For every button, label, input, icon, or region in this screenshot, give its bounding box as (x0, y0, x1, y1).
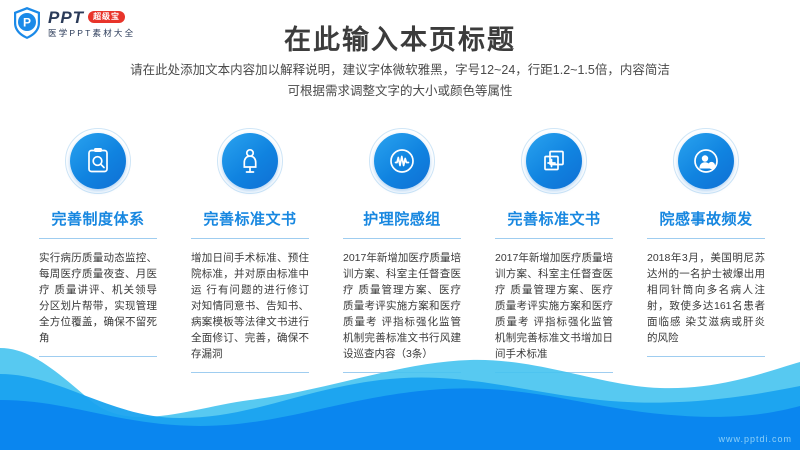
document-person-icon (235, 146, 265, 176)
person-shield-icon (691, 146, 721, 176)
title-divider (39, 238, 157, 239)
column-body: 2018年3月，美国明尼苏达州的一名护士被爆出用 相同针筒向多名病人注射，致使多… (647, 250, 765, 346)
column-title: 护理院感组 (363, 208, 441, 229)
column-title: 完善标准文书 (203, 208, 296, 229)
feature-columns: 完善制度体系 实行病历质量动态监控、每周医疗质量夜查、月医疗 质量讲评、机关领导… (22, 128, 782, 373)
page-title: 在此输入本页标题 (0, 18, 800, 57)
clipboard-search-icon (83, 146, 113, 176)
feature-column[interactable]: 院感事故频发 2018年3月，美国明尼苏达州的一名护士被爆出用 相同针筒向多名病… (630, 128, 782, 373)
watermark: www.pptdi.com (718, 434, 792, 444)
subtitle-line-2: 可根据需求调整文字的大小或颜色等属性 (0, 81, 800, 102)
subtitle-line-1: 请在此处添加文本内容加以解释说明，建议字体微软雅黑，字号12~24，行距1.2~… (0, 60, 800, 81)
icon-circle (678, 133, 734, 189)
icon-circle (70, 133, 126, 189)
feature-column[interactable]: 完善标准文书 增加日间手术标准、预住院标准，并对原由标准中运 行有问题的进行修订… (174, 128, 326, 373)
title-divider (343, 238, 461, 239)
feature-column[interactable]: 护理院感组 2017年新增加医疗质量培训方案、科室主任督查医疗 质量管理方案、医… (326, 128, 478, 373)
stacked-squares-plus-icon (539, 146, 569, 176)
icon-circle (374, 133, 430, 189)
icon-ring (521, 128, 587, 194)
icon-ring (673, 128, 739, 194)
feature-column[interactable]: 完善标准文书 2017年新增加医疗质量培训方案、科室主任督查医疗 质量管理方案、… (478, 128, 630, 373)
feature-column[interactable]: 完善制度体系 实行病历质量动态监控、每周医疗质量夜查、月医疗 质量讲评、机关领导… (22, 128, 174, 373)
column-body: 实行病历质量动态监控、每周医疗质量夜查、月医疗 质量讲评、机关领导分区划片帮带，… (39, 250, 157, 346)
icon-ring (65, 128, 131, 194)
title-divider (647, 238, 765, 239)
icon-ring (369, 128, 435, 194)
icon-circle (526, 133, 582, 189)
page-subtitle: 请在此处添加文本内容加以解释说明，建议字体微软雅黑，字号12~24，行距1.2~… (0, 60, 800, 102)
title-divider (495, 238, 613, 239)
title-divider (191, 238, 309, 239)
icon-ring (217, 128, 283, 194)
column-title: 院感事故频发 (659, 208, 752, 229)
pulse-heartbeat-icon (387, 146, 417, 176)
icon-circle (222, 133, 278, 189)
column-title: 完善标准文书 (507, 208, 600, 229)
wave-decoration (0, 340, 800, 450)
column-title: 完善制度体系 (51, 208, 144, 229)
